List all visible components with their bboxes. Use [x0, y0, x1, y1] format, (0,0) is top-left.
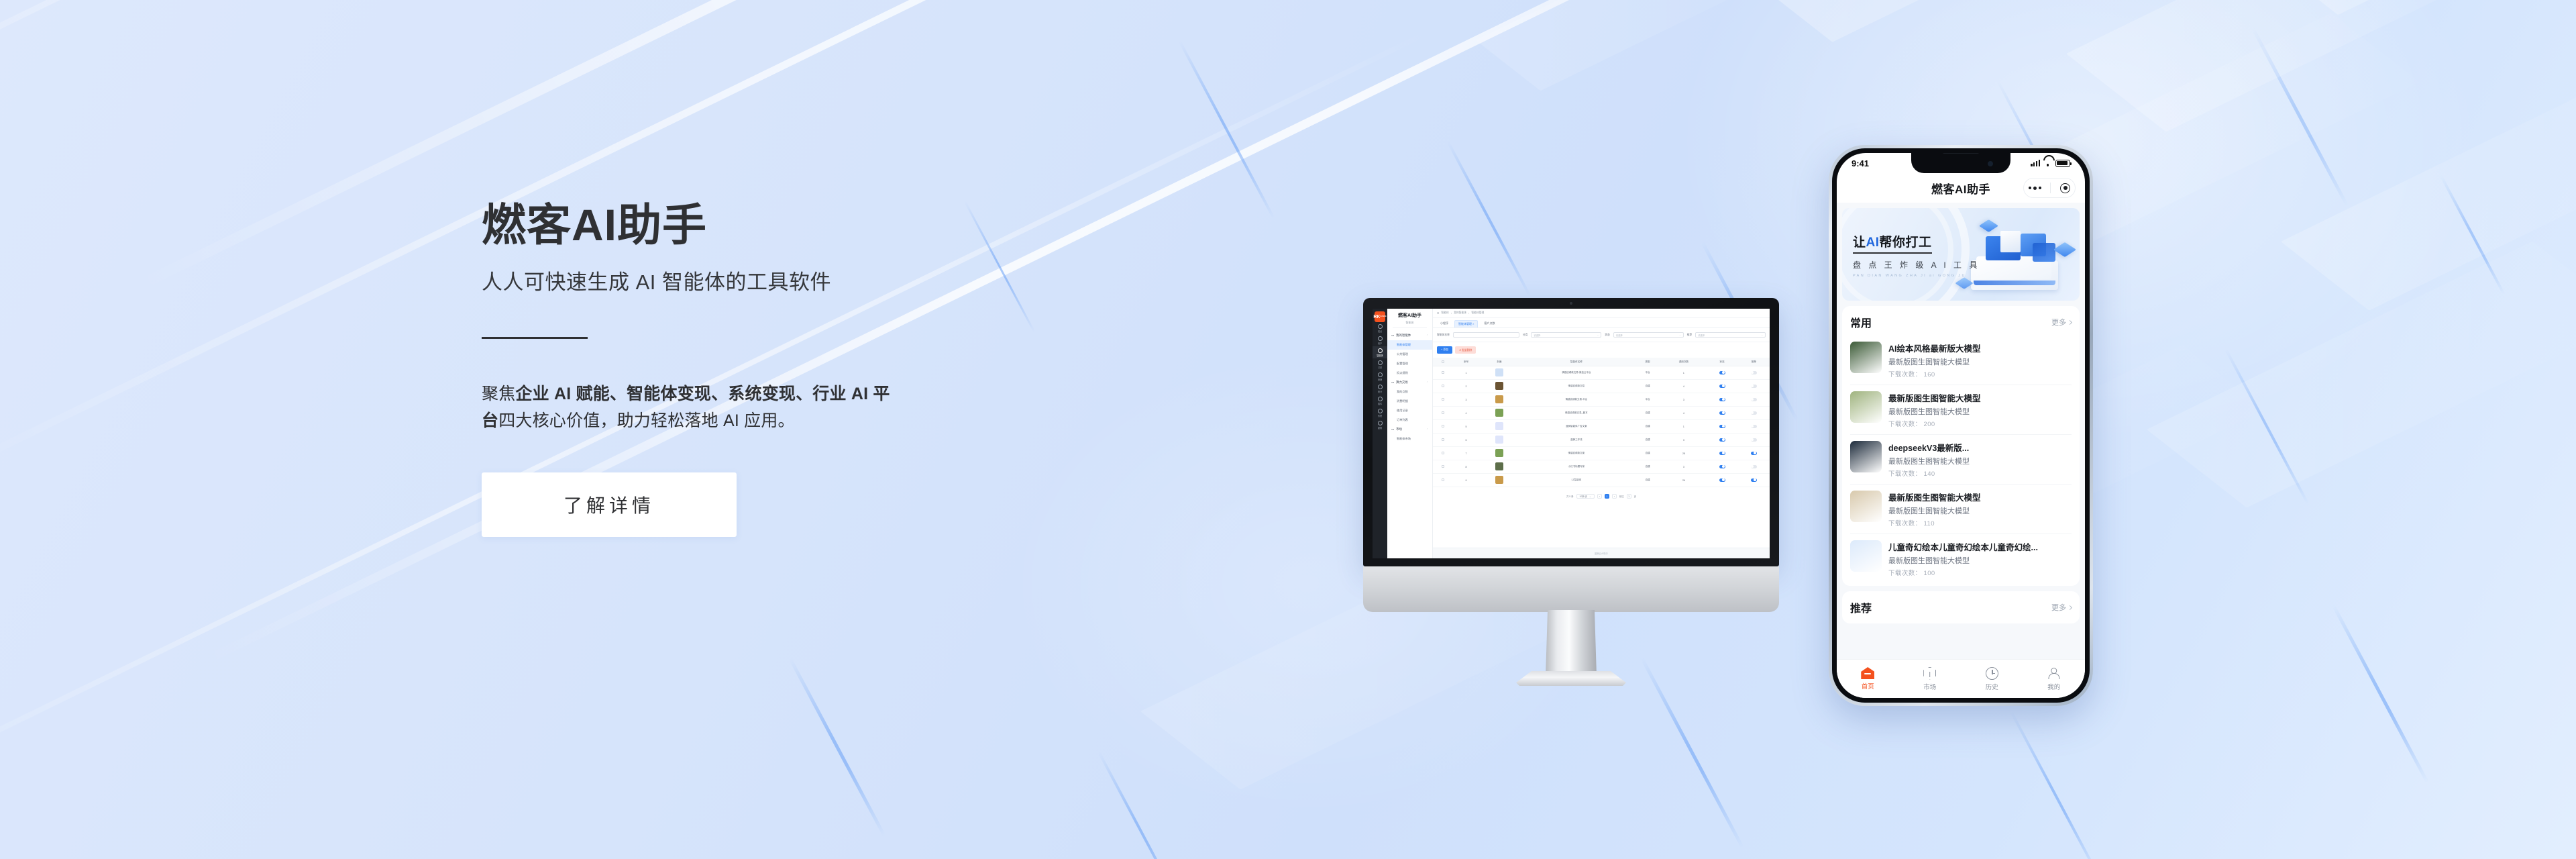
rail-icon-0	[1378, 324, 1383, 329]
sidebar-item-1-0[interactable]: 我的点数	[1387, 387, 1432, 397]
rail-item-label: 超管	[1378, 426, 1382, 429]
cell-calls: 3	[1661, 393, 1706, 407]
row-thumbnail	[1495, 409, 1503, 417]
rail-item-6[interactable]: 插件	[1373, 395, 1387, 407]
status-toggle[interactable]	[1719, 398, 1725, 401]
cube-icon	[1923, 667, 1936, 680]
cell-type: 自建	[1634, 380, 1662, 393]
status-toggle[interactable]	[1719, 438, 1725, 442]
breadcrumb-item-1[interactable]: 我的智能体	[1454, 311, 1466, 315]
row-checkbox[interactable]	[1442, 398, 1444, 401]
rail-item-label: 系统	[1378, 414, 1382, 417]
banner-headline: 让AI帮你打工	[1853, 232, 1932, 254]
section-more-link[interactable]: 更多	[2051, 602, 2072, 613]
more-menu-icon[interactable]	[2029, 187, 2041, 190]
miniprogram-capsule[interactable]	[2023, 178, 2076, 198]
section-header: 常用 更多	[1850, 314, 2072, 330]
table-row[interactable]: 1 情感纹绣款交易-微信云平台 平台 1	[1433, 366, 1770, 380]
filter-bar: 智能体名称分类请选择⌄状态请选择⌄推荐请选择⌄	[1433, 328, 1770, 342]
next-page-button[interactable]: ›	[1612, 494, 1617, 499]
status-toggle[interactable]	[1719, 425, 1725, 428]
featured-toggle[interactable]	[1751, 478, 1757, 482]
logo-text: RK	[1373, 315, 1380, 319]
item-title: AI绘本风格最新版大模型	[1888, 342, 2072, 354]
row-checkbox[interactable]	[1442, 385, 1444, 387]
cell-name: 情感纹绣款文案	[1519, 447, 1634, 460]
cell-name: 蓝狮工作流	[1519, 434, 1634, 447]
cell-index: 2	[1452, 380, 1480, 393]
monitor-screen: RK RANKE 站点 用户 智能体 订单 营销 统计	[1373, 309, 1770, 558]
list-item[interactable]: 儿童奇幻绘本儿童奇幻绘本儿童奇幻绘... 最新版图生图智能大模型 下载次数： 1…	[1850, 534, 2072, 583]
hero-subtitle: 人人可快速生成 AI 智能体的工具软件	[482, 269, 1193, 296]
goto-unit: 页	[1634, 495, 1636, 498]
phone-screen: 9:41 燃客AI助手	[1837, 153, 2085, 698]
item-subtitle: 最新版图生图智能大模型	[1888, 406, 2072, 417]
logo-subtext: RANKE	[1380, 316, 1386, 318]
phone-tabbar: 首页 市场 历史 我的	[1837, 659, 2085, 698]
tab-市场[interactable]: 市场	[1899, 667, 1962, 691]
desc-suffix: 四大核心价值，助力轻松落地 AI 应用。	[498, 411, 795, 430]
item-meta: 下载次数： 140	[1888, 468, 2072, 478]
rail-item-label: 站点	[1378, 330, 1382, 333]
sidebar-item-0-3[interactable]: 扣点规则	[1387, 368, 1432, 378]
status-toggle[interactable]	[1719, 371, 1725, 374]
rail-item-7[interactable]: 系统	[1373, 407, 1387, 419]
tab-首页[interactable]: 首页	[1837, 667, 1899, 691]
goto-label: 前往	[1619, 495, 1624, 498]
phone-navbar: 燃客AI助手	[1837, 173, 2085, 203]
cell-type: 平台	[1634, 366, 1662, 380]
sidebar-item-1-2[interactable]: 使用记录	[1387, 406, 1432, 415]
learn-more-button[interactable]: 了解详情	[482, 472, 737, 537]
featured-toggle[interactable]	[1751, 465, 1757, 468]
rail-icon-4	[1378, 372, 1383, 377]
cell-type: 自建	[1634, 434, 1662, 447]
sidebar-item-1-3[interactable]: 订单列表	[1387, 415, 1432, 425]
cell-type: 自建	[1634, 420, 1662, 434]
cell-name: LZ智能体	[1519, 474, 1634, 487]
tab-历史[interactable]: 历史	[1961, 667, 2023, 691]
rail-item-2[interactable]: 智能体	[1373, 346, 1387, 358]
folder-icon: ▭	[1391, 381, 1394, 385]
banner-pinyin: PAN DIAN WANG ZHA JI ai GONG JU	[1853, 274, 1980, 278]
agents-table: 序号封面智能体名称类型调用次数状态推荐 1 情感纹绣款交易-微信云平台 平台 1…	[1433, 358, 1770, 487]
monitor-bezel: RK RANKE 站点 用户 智能体 订单 营销 统计	[1363, 298, 1779, 566]
row-checkbox[interactable]	[1442, 478, 1444, 481]
table-header-4: 类型	[1634, 358, 1662, 366]
item-meta: 下载次数： 100	[1888, 568, 2072, 577]
monitor-stand-foot	[1516, 671, 1626, 686]
phone-inner-frame: 9:41 燃客AI助手	[1832, 148, 2090, 703]
home-icon	[1861, 667, 1874, 679]
dashboard-sidebar: 燃客AI助手 智能体 ▭ 我的智能体 ⌃ 智能体管理公共管理配置管理扣点规则 ▭…	[1387, 309, 1433, 558]
item-meta: 下载次数： 200	[1888, 419, 2072, 428]
rail-item-0[interactable]: 站点	[1373, 322, 1387, 334]
item-title: deepseekV3最新版...	[1888, 441, 2072, 454]
row-thumbnail	[1495, 368, 1503, 376]
breadcrumb-item-0[interactable]: 智能体	[1441, 311, 1448, 315]
select-all-checkbox[interactable]	[1442, 360, 1444, 363]
sidebar-item-1-1[interactable]: 消费明细	[1387, 397, 1432, 406]
cell-calls: 28	[1661, 447, 1706, 460]
sidebar-group-1[interactable]: ▭ 算力交易 ⌃	[1387, 378, 1432, 387]
phone-frame: 9:41 燃客AI助手	[1829, 145, 2093, 706]
status-time: 9:41	[1851, 158, 1869, 168]
table-row[interactable]: 4 情感纹绣款交易_副本 自建 4	[1433, 407, 1770, 420]
phone-mockup: 9:41 燃客AI助手	[1829, 145, 2093, 706]
section-more-link[interactable]: 更多	[2051, 317, 2072, 327]
dashboard-icon-rail: RK RANKE 站点 用户 智能体 订单 营销 统计	[1373, 309, 1387, 558]
tab-label: 市场	[1923, 682, 1936, 691]
status-toggle[interactable]	[1719, 411, 1725, 415]
monitor-chin	[1363, 566, 1779, 612]
featured-toggle[interactable]	[1751, 438, 1757, 442]
dashboard-footer: 蓝狮云AI助手	[1433, 548, 1770, 558]
sidebar-title: 燃客AI助手	[1387, 309, 1432, 321]
rail-icon-3	[1378, 360, 1383, 365]
featured-toggle[interactable]	[1751, 425, 1757, 428]
rail-icon-8	[1378, 421, 1383, 425]
table-row[interactable]: 8 小红书标题写家 自建 3	[1433, 460, 1770, 474]
item-subtitle: 最新版图生图智能大模型	[1888, 356, 2072, 367]
tab-strip: 小程序智能体管理 ×客户点数	[1433, 318, 1770, 328]
rail-icon-2	[1378, 348, 1383, 353]
list-item[interactable]: 最新版图生图智能大模型 最新版图生图智能大模型 下载次数： 110	[1850, 485, 2072, 534]
capsule-divider	[2050, 183, 2051, 193]
filter-input-0[interactable]	[1453, 332, 1519, 338]
cell-index: 1	[1452, 366, 1480, 380]
breadcrumb-item-2[interactable]: 智能体管理	[1471, 311, 1484, 315]
sidebar-group-0[interactable]: ▭ 我的智能体 ⌃	[1387, 331, 1432, 340]
item-thumbnail	[1850, 540, 1882, 572]
featured-toggle[interactable]	[1751, 452, 1757, 455]
sidebar-group-label: 算力交易	[1396, 381, 1408, 385]
admin-dashboard: RK RANKE 站点 用户 智能体 订单 营销 统计	[1373, 309, 1770, 558]
cell-type: 自建	[1634, 474, 1662, 487]
cell-calls: 1	[1661, 366, 1706, 380]
cell-name: 情感纹绣款交易-平台	[1519, 393, 1634, 407]
cell-calls: 3	[1661, 434, 1706, 447]
tab-label: 我的	[2047, 682, 2060, 691]
status-toggle[interactable]	[1719, 465, 1725, 468]
rail-icon-7	[1378, 409, 1383, 413]
dashboard-main: ☰智能体›我的智能体›智能体管理 小程序智能体管理 ×客户点数 智能体名称分类请…	[1433, 309, 1770, 558]
row-checkbox[interactable]	[1442, 452, 1444, 454]
close-icon[interactable]: ×	[1472, 322, 1474, 325]
cell-index: 5	[1452, 420, 1480, 434]
item-title: 儿童奇幻绘本儿童奇幻绘本儿童奇幻绘...	[1888, 540, 2072, 553]
cell-index: 6	[1452, 434, 1480, 447]
battery-icon	[2055, 160, 2070, 167]
item-meta: 下载次数： 160	[1888, 369, 2072, 378]
rail-item-5[interactable]: 统计	[1373, 383, 1387, 395]
table-actions: + 添加 ↺ 批量删除	[1433, 342, 1770, 358]
folder-icon: ▭	[1391, 334, 1394, 338]
banner-subline: 盘 点 王 炸 级 A I 工 具	[1853, 259, 1980, 270]
cell-index: 8	[1452, 460, 1480, 474]
cell-calls: 3	[1661, 460, 1706, 474]
filter-label-2: 状态	[1605, 334, 1610, 337]
cell-type: 平台	[1634, 393, 1662, 407]
cell-index: 3	[1452, 393, 1480, 407]
cell-name: 蓝狮智能体广告文案	[1519, 420, 1634, 434]
list-item[interactable]: deepseekV3最新版... 最新版图生图智能大模型 下载次数： 140	[1850, 435, 2072, 485]
sidebar-item-0-1[interactable]: 公共管理	[1387, 350, 1432, 359]
section-header: 推荐 更多	[1850, 599, 2072, 615]
status-toggle[interactable]	[1719, 452, 1725, 455]
chevron-down-icon: ⌄	[1679, 334, 1681, 336]
cell-name: 情感纹绣款交易	[1519, 380, 1634, 393]
filter-label-3: 推荐	[1687, 334, 1693, 337]
tab-label: 首页	[1862, 681, 1874, 691]
rail-icon-1	[1378, 336, 1383, 341]
table-row[interactable]: 3 情感纹绣款交易-平台 平台 3	[1433, 393, 1770, 407]
phone-content: 让AI帮你打工 盘 点 王 炸 级 A I 工 具 PAN DIAN WANG …	[1837, 203, 2085, 698]
cell-type: 自建	[1634, 407, 1662, 420]
row-checkbox[interactable]	[1442, 425, 1444, 427]
wifi-icon	[2043, 160, 2052, 166]
row-thumbnail	[1495, 436, 1503, 444]
signal-icon	[2031, 160, 2040, 166]
page-1-button[interactable]: 1	[1605, 494, 1609, 499]
rail-item-3[interactable]: 订单	[1373, 358, 1387, 370]
table-row[interactable]: 9 LZ智能体 自建 26	[1433, 474, 1770, 487]
item-thumbnail	[1850, 342, 1882, 373]
table-row[interactable]: 7 情感纹绣款文案 自建 28	[1433, 447, 1770, 460]
monitor-stand-neck	[1546, 610, 1597, 676]
list-item[interactable]: AI绘本风格最新版大模型 最新版图生图智能大模型 下载次数： 160	[1850, 336, 2072, 385]
webcam-icon	[1570, 302, 1572, 305]
table-header-0	[1433, 358, 1452, 366]
table-row[interactable]: 5 蓝狮智能体广告文案 自建 1	[1433, 420, 1770, 434]
rail-item-label: 插件	[1378, 402, 1382, 405]
table-header-6: 状态	[1706, 358, 1737, 366]
table-header-1: 序号	[1452, 358, 1480, 366]
sidebar-item-0-0[interactable]: 智能体管理	[1387, 340, 1432, 350]
sidebar-group-label: 我的智能体	[1396, 334, 1411, 338]
featured-toggle[interactable]	[1751, 385, 1757, 388]
tab-我的[interactable]: 我的	[2023, 667, 2086, 691]
tab-label: 历史	[1986, 682, 1998, 691]
chevron-up-icon: ⌃	[1426, 428, 1428, 431]
hero-description: 聚焦企业 AI 赋能、智能体变现、系统变现、行业 AI 平台四大核心价值，助力轻…	[482, 381, 898, 435]
table-header-2: 封面	[1480, 358, 1519, 366]
folder-icon: ▭	[1391, 427, 1394, 432]
status-bar: 9:41	[1837, 153, 2085, 173]
rail-item-label: 营销	[1378, 378, 1382, 381]
item-title: 最新版图生图智能大模型	[1888, 491, 2072, 503]
table-header-7: 推荐	[1738, 358, 1770, 366]
rail-item-label: 订单	[1378, 366, 1382, 369]
breadcrumb-sep: ›	[1468, 312, 1469, 315]
rail-item-8[interactable]: 超管	[1373, 419, 1387, 431]
page-title: 燃客AI助手	[482, 201, 1193, 249]
promo-banner[interactable]: 让AI帮你打工 盘 点 王 炸 级 A I 工 具 PAN DIAN WANG …	[1842, 208, 2080, 301]
menu-fold-icon[interactable]: ☰	[1437, 311, 1439, 315]
cell-calls: 4	[1661, 380, 1706, 393]
item-thumbnail	[1850, 491, 1882, 522]
brand-logo-icon: RK RANKE	[1375, 311, 1385, 322]
chevron-down-icon: ⌄	[1762, 334, 1764, 336]
goto-input[interactable]: 1	[1627, 494, 1631, 499]
table-row[interactable]: 2 情感纹绣款交易 自建 4	[1433, 380, 1770, 393]
filter-select-3[interactable]: 请选择⌄	[1695, 332, 1766, 338]
rail-icon-6	[1378, 397, 1383, 401]
cell-name: 情感纹绣款交易_副本	[1519, 407, 1634, 420]
tab-0[interactable]: 小程序	[1437, 320, 1452, 327]
batch-delete-button[interactable]: ↺ 批量删除	[1455, 346, 1476, 354]
cell-calls: 26	[1661, 474, 1706, 487]
rail-item-1[interactable]: 用户	[1373, 334, 1387, 346]
clock-icon	[1986, 667, 1998, 680]
item-subtitle: 最新版图生图智能大模型	[1888, 555, 2072, 566]
user-icon	[2047, 667, 2060, 680]
filter-select-2[interactable]: 请选择⌄	[1613, 332, 1684, 338]
cell-type: 自建	[1634, 447, 1662, 460]
row-checkbox[interactable]	[1442, 438, 1444, 441]
row-thumbnail	[1495, 422, 1503, 430]
list-item[interactable]: 最新版图生图智能大模型 最新版图生图智能大模型 下载次数： 200	[1850, 385, 2072, 435]
status-icons	[2031, 160, 2070, 167]
row-thumbnail	[1495, 382, 1503, 390]
featured-toggle[interactable]	[1751, 371, 1757, 374]
sidebar-subtitle: 智能体	[1393, 321, 1427, 328]
cell-type: 自建	[1634, 460, 1662, 474]
close-target-icon[interactable]	[2060, 183, 2070, 193]
cell-name: 小红书标题写家	[1519, 460, 1634, 474]
phone-section-0: 常用 更多 AI绘本风格最新版大模型 最新版图生图智能大模型 下载次数： 160…	[1842, 306, 2080, 586]
chevron-up-icon: ⌃	[1426, 381, 1428, 384]
section-title: 常用	[1850, 314, 1872, 330]
item-thumbnail	[1850, 441, 1882, 472]
status-toggle[interactable]	[1719, 385, 1725, 388]
featured-toggle[interactable]	[1751, 411, 1757, 415]
rail-item-label: 用户	[1378, 342, 1382, 345]
row-thumbnail	[1495, 395, 1503, 403]
row-checkbox[interactable]	[1442, 411, 1444, 414]
item-thumbnail	[1850, 391, 1882, 423]
item-subtitle: 最新版图生图智能大模型	[1888, 456, 2072, 466]
cell-index: 4	[1452, 407, 1480, 420]
cell-index: 7	[1452, 447, 1480, 460]
chevron-up-icon: ⌃	[1426, 334, 1428, 337]
filter-label-1: 分类	[1523, 334, 1528, 337]
row-thumbnail	[1495, 449, 1503, 457]
page-size-select[interactable]: 10条/页⌄	[1576, 494, 1595, 499]
row-checkbox[interactable]	[1442, 465, 1444, 468]
tab-1[interactable]: 智能体管理 ×	[1454, 320, 1478, 327]
status-toggle[interactable]	[1719, 478, 1725, 482]
filter-select-1[interactable]: 请选择⌄	[1531, 332, 1601, 338]
rail-icon-5	[1378, 385, 1383, 389]
row-thumbnail	[1495, 462, 1503, 470]
phone-title: 燃客AI助手	[1931, 180, 1990, 197]
sidebar-group-2[interactable]: ▭ 市场 ⌃	[1387, 425, 1432, 434]
desktop-mockup: RK RANKE 站点 用户 智能体 订单 营销 统计	[1363, 298, 1779, 701]
pagination: 共 9 条 10条/页⌄ ‹ 1 › 前往 1 页	[1433, 487, 1770, 505]
tab-2[interactable]: 客户点数	[1481, 320, 1498, 327]
rail-item-4[interactable]: 营销	[1373, 370, 1387, 383]
table-row[interactable]: 6 蓝狮工作流 自建 3	[1433, 434, 1770, 447]
row-thumbnail	[1495, 476, 1503, 484]
phone-section-1: 推荐 更多	[1842, 591, 2080, 623]
banner-text: 让AI帮你打工 盘 点 王 炸 级 A I 工 具 PAN DIAN WANG …	[1853, 232, 1980, 278]
filter-label-0: 智能体名称	[1437, 334, 1450, 337]
breadcrumb-sep: ›	[1451, 312, 1452, 315]
cell-index: 9	[1452, 474, 1480, 487]
row-checkbox[interactable]	[1442, 371, 1444, 374]
item-meta: 下载次数： 110	[1888, 518, 2072, 527]
add-button[interactable]: + 添加	[1437, 346, 1452, 354]
sidebar-item-0-2[interactable]: 配置管理	[1387, 359, 1432, 368]
item-subtitle: 最新版图生图智能大模型	[1888, 505, 2072, 516]
background-pattern	[0, 0, 2576, 859]
rail-item-label: 智能体	[1377, 354, 1383, 357]
hero-copy: 燃客AI助手 人人可快速生成 AI 智能体的工具软件 聚焦企业 AI 赋能、智能…	[482, 201, 1193, 537]
section-title: 推荐	[1850, 599, 1872, 615]
table-header-3: 智能体名称	[1519, 358, 1634, 366]
cell-calls: 1	[1661, 420, 1706, 434]
table-header-5: 调用次数	[1661, 358, 1706, 366]
hero-banner: 燃客AI助手 人人可快速生成 AI 智能体的工具软件 聚焦企业 AI 赋能、智能…	[0, 0, 2576, 859]
chevron-right-icon	[2068, 319, 2072, 324]
rail-item-label: 统计	[1378, 390, 1382, 393]
featured-toggle[interactable]	[1751, 398, 1757, 401]
item-title: 最新版图生图智能大模型	[1888, 391, 2072, 404]
cell-name: 情感纹绣款交易-微信云平台	[1519, 366, 1634, 380]
desc-prefix: 聚焦	[482, 385, 515, 403]
chevron-down-icon: ⌄	[1597, 334, 1599, 336]
prev-page-button[interactable]: ‹	[1597, 494, 1602, 499]
sidebar-item-2-0[interactable]: 智能体市场	[1387, 434, 1432, 444]
divider	[482, 337, 588, 339]
chevron-right-icon	[2068, 605, 2072, 609]
sidebar-group-label: 市场	[1396, 427, 1402, 432]
pagination-total: 共 9 条	[1566, 495, 1574, 498]
cell-calls: 4	[1661, 407, 1706, 420]
breadcrumb: ☰智能体›我的智能体›智能体管理	[1433, 309, 1770, 318]
